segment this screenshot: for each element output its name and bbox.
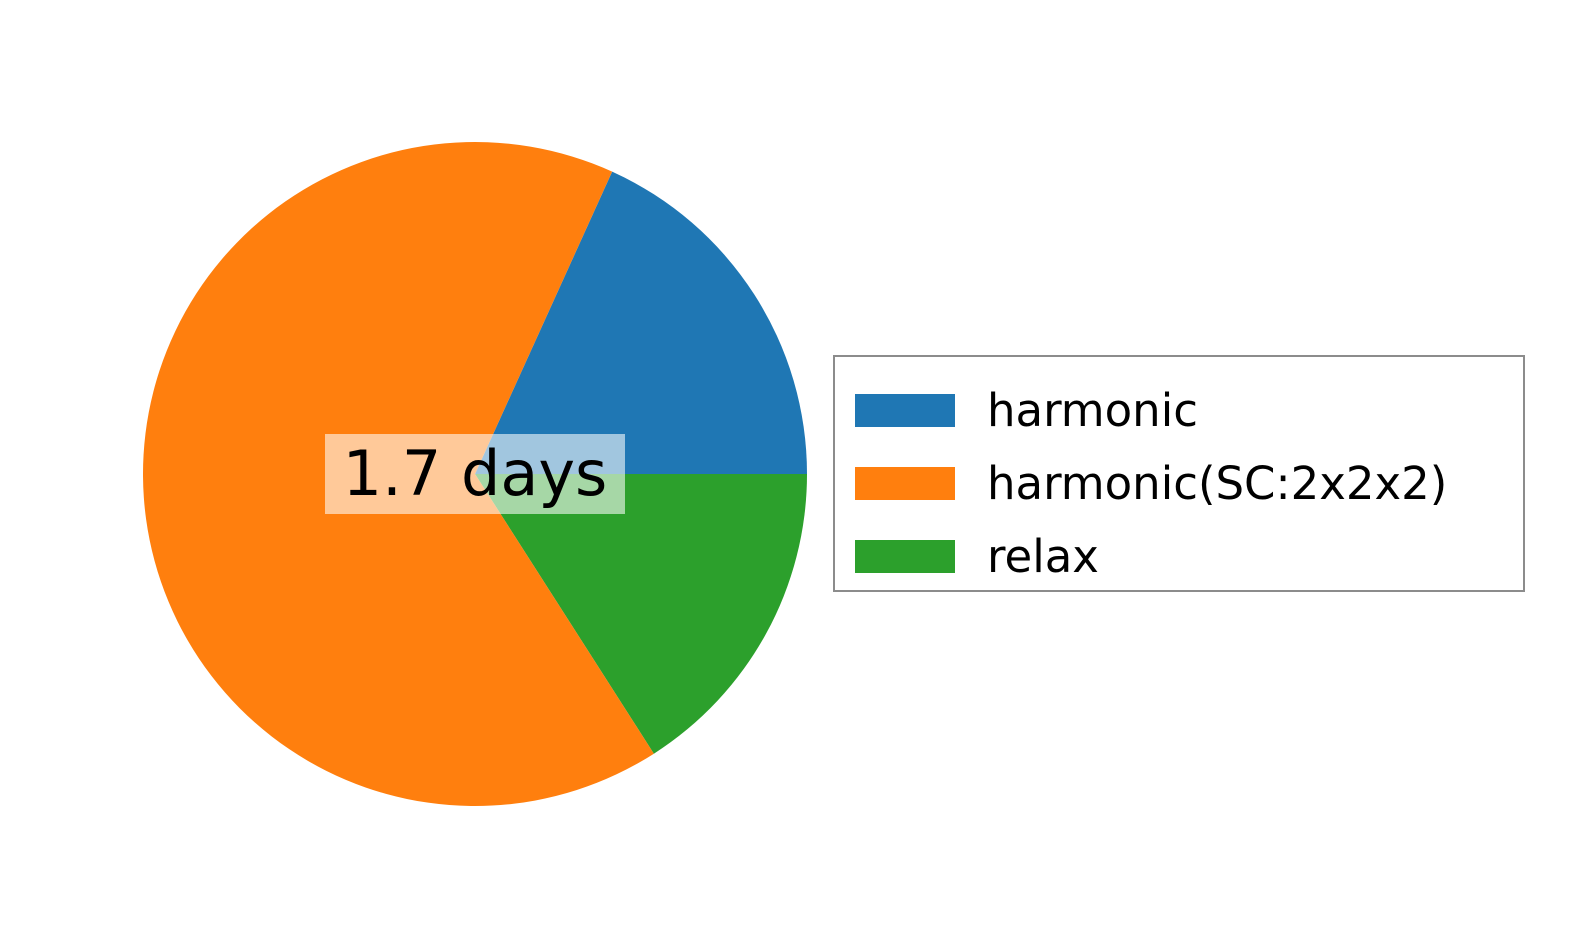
legend-entry-label: relax: [987, 534, 1099, 579]
legend-entry[interactable]: harmonic: [835, 374, 1523, 447]
chart-legend: harmonicharmonic(SC:2x2x2)relax: [833, 355, 1525, 592]
legend-entry-label: harmonic: [987, 388, 1198, 433]
pie-chart-figure: 1.7 days harmonicharmonic(SC:2x2x2)relax: [0, 0, 1584, 951]
legend-color-swatch: [855, 467, 955, 500]
legend-color-swatch: [855, 540, 955, 573]
pie-svg: [0, 0, 900, 951]
pie-slice-group: [143, 142, 807, 806]
legend-color-swatch: [855, 394, 955, 427]
pie-plot-area: 1.7 days: [0, 0, 900, 951]
legend-entry-list: harmonicharmonic(SC:2x2x2)relax: [835, 357, 1523, 590]
legend-entry-label: harmonic(SC:2x2x2): [987, 461, 1447, 506]
legend-entry[interactable]: harmonic(SC:2x2x2): [835, 447, 1523, 520]
legend-entry[interactable]: relax: [835, 520, 1523, 593]
